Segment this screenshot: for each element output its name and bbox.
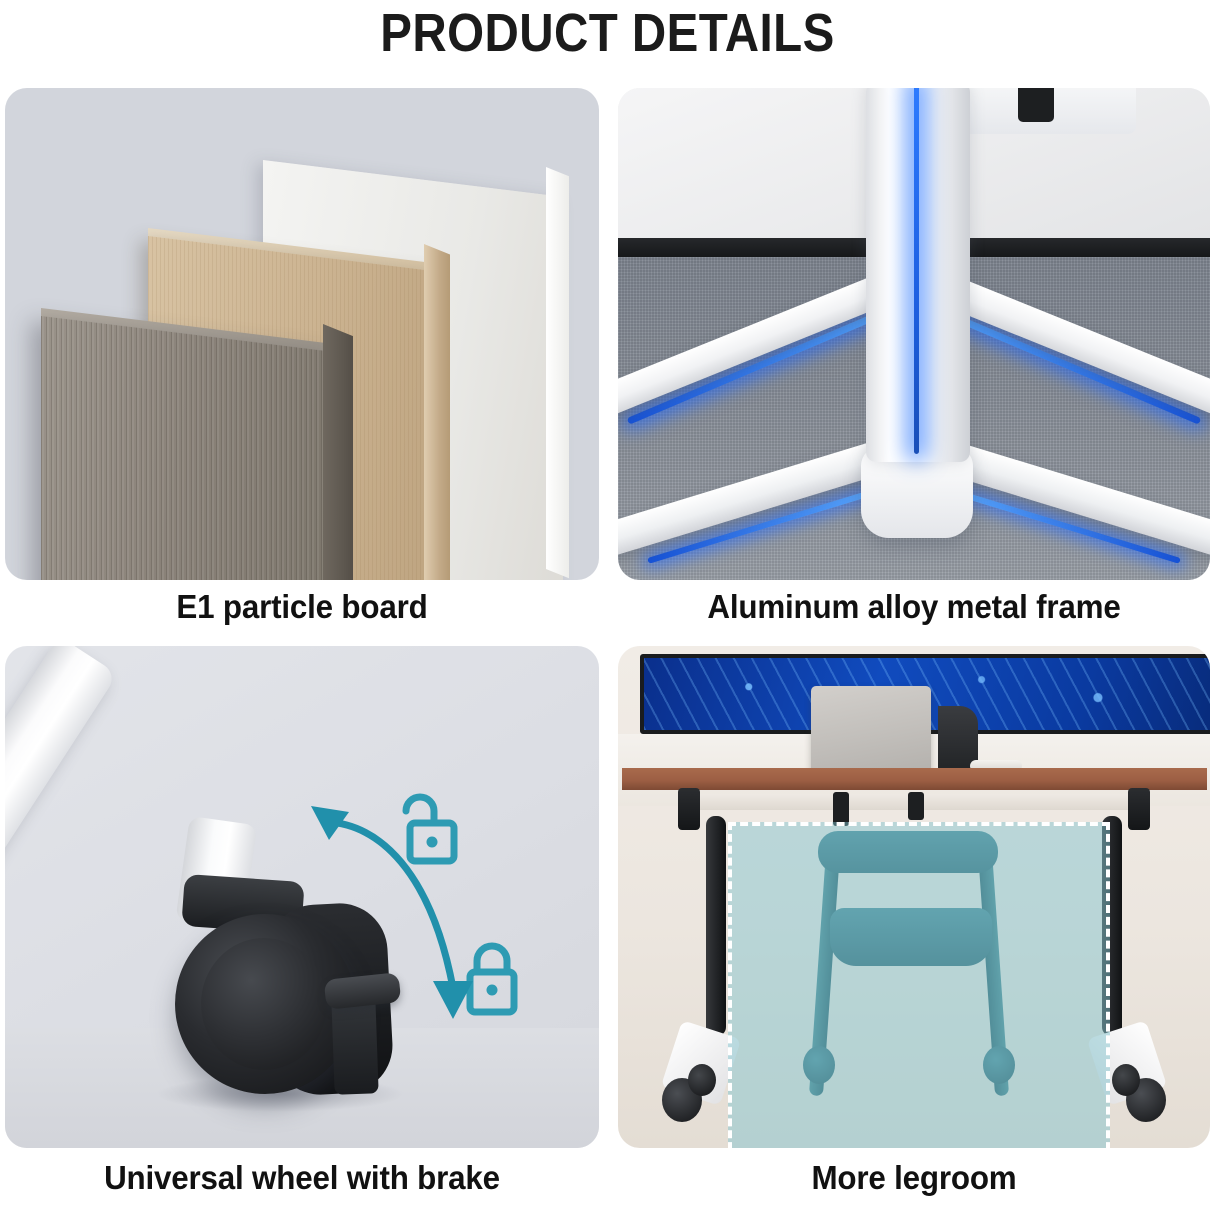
feature-card-particle-board[interactable]: E1 particle board xyxy=(5,88,599,580)
more-legroom-photo xyxy=(618,646,1210,1148)
desk-bracket-right xyxy=(1128,788,1150,830)
column-blue-glow xyxy=(914,88,919,454)
page-title: PRODUCT DETAILS xyxy=(73,2,1142,64)
rotation-arrow-icon xyxy=(311,806,473,1019)
product-details-infographic: PRODUCT DETAILS E1 particle board xyxy=(0,0,1215,1205)
feature-card-metal-frame[interactable]: Aluminum alloy metal frame xyxy=(618,88,1210,580)
lock-indicator-group xyxy=(305,776,535,1046)
desk-bracket-inner-right xyxy=(908,792,924,820)
gray-board-face xyxy=(41,316,337,580)
desk-top-surface xyxy=(622,768,1207,790)
upper-frame-clamp xyxy=(1018,88,1054,122)
caption-more-legroom: More legroom xyxy=(633,1159,1195,1197)
feature-card-universal-wheel[interactable]: Universal wheel with brake xyxy=(5,646,599,1148)
oak-board-edge xyxy=(424,244,450,580)
caption-metal-frame: Aluminum alloy metal frame xyxy=(633,588,1195,626)
table-leg-upper xyxy=(5,646,118,884)
laptop xyxy=(811,686,931,772)
particle-board-photo xyxy=(5,88,599,580)
white-board-edge xyxy=(546,167,569,578)
legroom-highlight-region xyxy=(728,822,1110,1148)
desk-bracket-inner-left xyxy=(833,792,849,826)
unlock-icon xyxy=(406,797,454,861)
desk-bracket-left xyxy=(678,788,700,830)
lock-icon xyxy=(470,946,514,1012)
desk-caster-right-rear xyxy=(1112,1064,1140,1096)
feature-card-more-legroom[interactable]: More legroom xyxy=(618,646,1210,1148)
desk-leg-left xyxy=(706,816,726,1036)
gray-board-edge xyxy=(323,324,353,580)
caption-universal-wheel: Universal wheel with brake xyxy=(20,1159,584,1197)
universal-wheel-photo xyxy=(5,646,599,1148)
caption-particle-board: E1 particle board xyxy=(20,588,584,626)
desk-caster-left-rear xyxy=(688,1064,716,1096)
metal-frame-photo xyxy=(618,88,1210,580)
feature-grid: E1 particle board xyxy=(0,86,1215,1205)
